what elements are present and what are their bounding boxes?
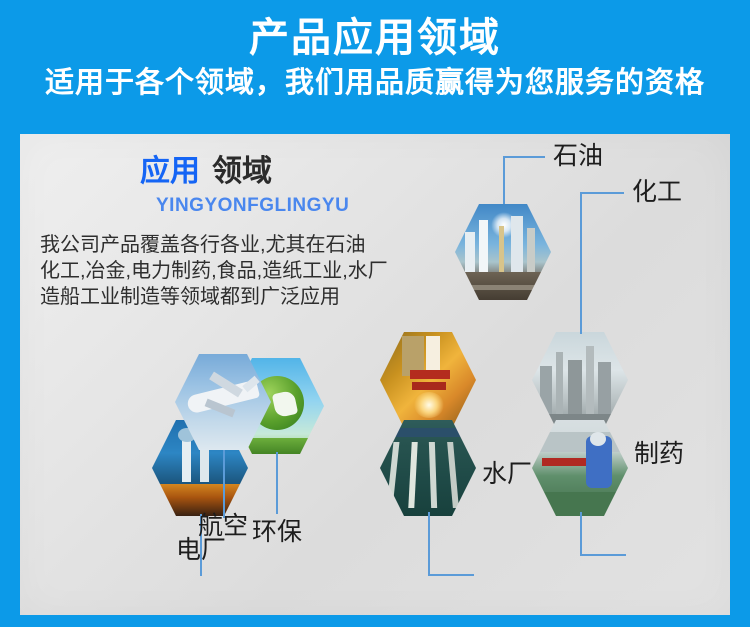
page-subtitle: 适用于各个领域，我们用品质赢得为您服务的资格 [45,66,705,100]
product-application-banner: 产品应用领域 适用于各个领域，我们用品质赢得为您服务的资格 应用领域 YINGY… [0,0,750,627]
label-petroleum: 石油 [553,142,603,170]
connector-petroleum [503,156,505,204]
label-pharma: 制药 [634,440,684,468]
intro-heading: 应用领域 [140,154,480,190]
hex-metallurgy[interactable] [380,330,476,430]
intro-heading-plain: 领域 [212,155,272,188]
intro-body-line: 我公司产品覆盖各行各业,尤其在石油 [40,232,470,258]
banner-header: 产品应用领域 适用于各个领域，我们用品质赢得为您服务的资格 [0,0,750,118]
connector-water-plant [428,512,430,574]
hex-pharma[interactable] [532,418,628,518]
label-power-plant: 电厂 [176,536,226,564]
label-aviation: 航空 [198,512,248,540]
label-water-plant: 水厂 [482,460,532,488]
connector-pharma [580,512,582,554]
weld-spark-icon [414,392,444,418]
connector-aviation [223,450,225,518]
page-title: 产品应用领域 [249,16,501,60]
intro-heading-accent: 应用 [140,155,200,188]
intro-body: 我公司产品覆盖各行各业,尤其在石油 化工,冶金,电力制药,食品,造纸工业,水厂 … [40,232,470,310]
connector-chemical-h [580,192,624,194]
hex-water-plant[interactable] [380,418,476,518]
content-stage: 应用领域 YINGYONFGLINGYU 我公司产品覆盖各行各业,尤其在石油 化… [20,134,730,615]
connector-water-plant-h [428,574,474,576]
label-environment: 环保 [252,518,302,546]
connector-petroleum-h [503,156,545,158]
label-chemical: 化工 [632,178,682,206]
intro-body-line: 化工,冶金,电力制药,食品,造纸工业,水厂 [40,258,470,284]
connector-environment [276,452,278,514]
connector-pharma-h [580,554,626,556]
hex-chemical[interactable] [532,330,628,430]
intro-pinyin: YINGYONFGLINGYU [156,194,480,218]
intro-body-line: 造船工业制造等领域都到广泛应用 [40,284,470,310]
intro-block: 应用领域 YINGYONFGLINGYU 我公司产品覆盖各行各业,尤其在石油 化… [140,154,480,310]
connector-chemical [580,192,582,334]
